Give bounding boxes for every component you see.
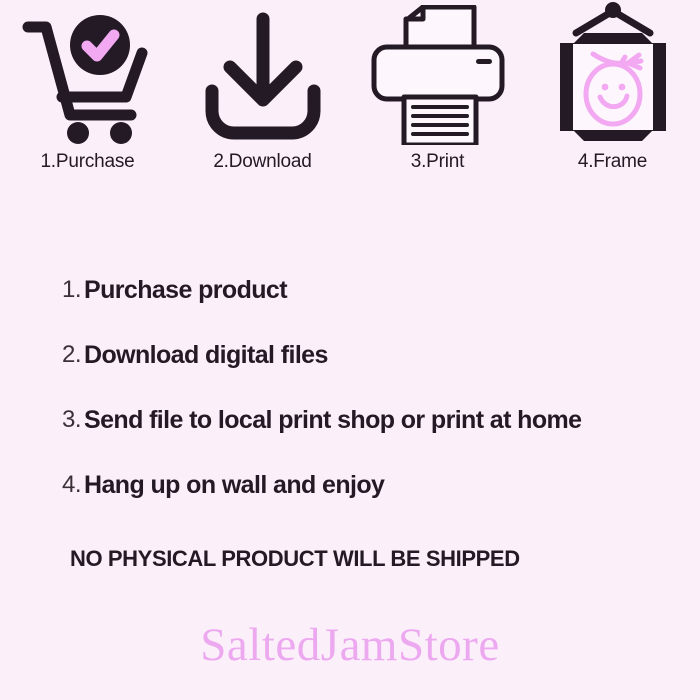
shopping-cart-check-icon <box>18 5 158 145</box>
doodle-eye-left-icon <box>601 84 608 91</box>
list-item-text: Download digital files <box>84 343 328 368</box>
frame-nail-icon <box>605 2 621 18</box>
step-print: 3.Print <box>350 0 525 200</box>
step-download-art <box>200 0 326 150</box>
instructions-list: 1. Purchase product 2. Download digital … <box>62 278 662 538</box>
step-print-art <box>368 0 508 150</box>
printer-output-paper <box>404 97 476 145</box>
list-item: 1. Purchase product <box>62 278 662 343</box>
list-item-number: 2. <box>62 343 81 367</box>
list-item-number: 1. <box>62 278 81 302</box>
step-print-caption: 3.Print <box>411 152 465 171</box>
printer-slot-icon <box>476 59 492 64</box>
store-brand-logo: SaltedJamStore <box>0 622 700 669</box>
list-item: 4. Hang up on wall and enjoy <box>62 473 662 538</box>
cart-wheel-left-icon <box>67 122 89 144</box>
list-item-number: 4. <box>62 473 81 497</box>
list-item: 3. Send file to local print shop or prin… <box>62 408 662 473</box>
doodle-eye-right-icon <box>618 84 625 91</box>
list-item: 2. Download digital files <box>62 343 662 408</box>
printer-body <box>374 47 502 99</box>
no-physical-product-notice: NO PHYSICAL PRODUCT WILL BE SHIPPED <box>70 546 520 572</box>
cart-wheel-right-icon <box>110 122 132 144</box>
step-download-caption: 2.Download <box>213 152 311 171</box>
step-frame: 4.Frame <box>525 0 700 200</box>
list-item-text: Purchase product <box>84 278 287 303</box>
step-purchase-art <box>18 0 158 150</box>
step-purchase: 1.Purchase <box>0 0 175 200</box>
step-frame-art <box>548 0 678 150</box>
picture-frame-icon <box>548 0 678 151</box>
download-arrow-tray-icon <box>200 5 326 145</box>
step-download: 2.Download <box>175 0 350 200</box>
list-item-text: Send file to local print shop or print a… <box>84 408 581 433</box>
list-item-text: Hang up on wall and enjoy <box>84 473 384 498</box>
printer-icon <box>368 5 508 145</box>
step-frame-caption: 4.Frame <box>578 152 647 171</box>
step-purchase-caption: 1.Purchase <box>40 152 134 171</box>
steps-strip: 1.Purchase 2.Download <box>0 0 700 200</box>
list-item-number: 3. <box>62 408 81 432</box>
printer-top-sheet <box>406 7 474 47</box>
printable-instructions-page: 1.Purchase 2.Download <box>0 0 700 700</box>
